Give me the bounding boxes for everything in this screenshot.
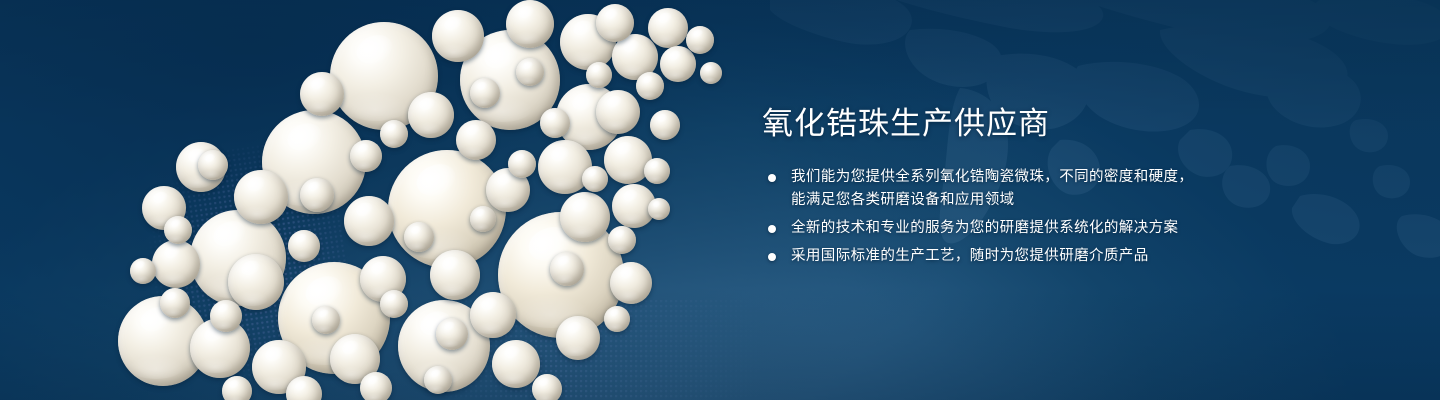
zirconia-beads-image — [0, 0, 780, 400]
list-item-line: 我们能为您提供全系列氧化锆陶瓷微珠，不同的密度和硬度， — [791, 166, 1382, 189]
list-item: 全新的技术和专业的服务为您的研磨提供系统化的解决方案 — [762, 217, 1382, 240]
list-item-line: 能满足您各类研磨设备和应用领域 — [791, 189, 1382, 212]
bullet-dot-icon — [768, 253, 776, 261]
list-item: 采用国际标准的生产工艺，随时为您提供研磨介质产品 — [762, 245, 1382, 268]
list-item-line: 全新的技术和专业的服务为您的研磨提供系统化的解决方案 — [791, 217, 1382, 240]
list-item: 我们能为您提供全系列氧化锆陶瓷微珠，不同的密度和硬度， 能满足您各类研磨设备和应… — [762, 166, 1382, 212]
hero-banner: 氧化锆珠生产供应商 我们能为您提供全系列氧化锆陶瓷微珠，不同的密度和硬度， 能满… — [0, 0, 1440, 400]
feature-list: 我们能为您提供全系列氧化锆陶瓷微珠，不同的密度和硬度， 能满足您各类研磨设备和应… — [762, 166, 1382, 268]
bullet-dot-icon — [768, 225, 776, 233]
list-item-line: 采用国际标准的生产工艺，随时为您提供研磨介质产品 — [791, 245, 1382, 268]
bullet-dot-icon — [768, 174, 776, 182]
page-title: 氧化锆珠生产供应商 — [762, 104, 1382, 144]
banner-copy: 氧化锆珠生产供应商 我们能为您提供全系列氧化锆陶瓷微珠，不同的密度和硬度， 能满… — [762, 104, 1382, 268]
